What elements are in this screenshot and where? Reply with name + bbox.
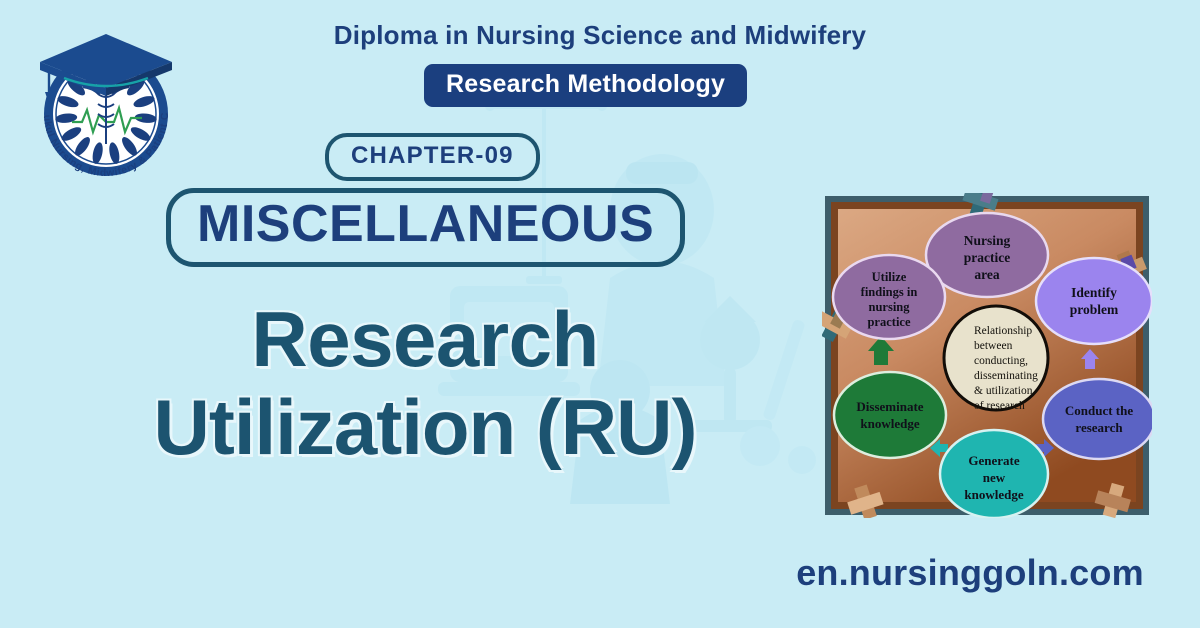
svg-text:disseminating: disseminating	[974, 370, 1038, 382]
page-title-line2: Utilization (RU)	[30, 383, 820, 471]
page-title: Research Utilization (RU)	[30, 295, 820, 471]
unit-box: MISCELLANEOUS	[166, 188, 685, 267]
svg-text:Utilize: Utilize	[872, 270, 907, 284]
svg-text:between: between	[974, 340, 1013, 352]
svg-text:Nursing: Nursing	[964, 233, 1011, 248]
diagram-center-circle: Relationship between conducting, dissemi…	[944, 306, 1048, 412]
svg-text:findings in: findings in	[861, 285, 918, 299]
research-utilization-diagram: Nursing practice area Identify problem C…	[822, 193, 1152, 518]
website-url[interactable]: en.nursinggoln.com	[760, 552, 1180, 594]
svg-text:new: new	[983, 470, 1006, 485]
page-title-line1: Research	[251, 295, 598, 383]
chapter-badge: CHAPTER-09	[325, 133, 540, 181]
node-utilize-findings: Utilize findings in nursing practice	[833, 255, 945, 339]
gurukul-logo: Gurukul Nursing, Midwifery & Patient Car…	[22, 22, 190, 190]
svg-text:nursing: nursing	[869, 300, 911, 314]
svg-text:conducting,: conducting,	[974, 355, 1028, 367]
node-disseminate-knowledge: Disseminate knowledge	[834, 372, 946, 458]
svg-text:knowledge: knowledge	[860, 416, 919, 431]
node-nursing-practice-area: Nursing practice area	[926, 213, 1048, 297]
svg-text:Identify: Identify	[1071, 285, 1117, 300]
node-conduct-the-research: Conduct the research	[1043, 379, 1152, 459]
svg-text:practice: practice	[964, 250, 1010, 265]
subject-badge: Research Methodology	[424, 64, 747, 107]
course-title: Diploma in Nursing Science and Midwifery	[200, 20, 1000, 51]
svg-text:& utilization: & utilization	[974, 385, 1033, 397]
svg-text:knowledge: knowledge	[964, 487, 1023, 502]
svg-text:research: research	[1075, 420, 1123, 435]
svg-text:Relationship: Relationship	[974, 325, 1032, 337]
svg-text:area: area	[974, 267, 999, 282]
node-generate-new-knowledge: Generate new knowledge	[940, 430, 1048, 518]
svg-text:practice: practice	[867, 315, 910, 329]
svg-text:Generate: Generate	[968, 453, 1019, 468]
svg-text:Disseminate: Disseminate	[856, 399, 923, 414]
svg-text:problem: problem	[1070, 302, 1119, 317]
unit-label: MISCELLANEOUS	[197, 198, 654, 251]
node-identify-problem: Identify problem	[1036, 258, 1152, 344]
svg-text:Conduct the: Conduct the	[1065, 403, 1133, 418]
svg-text:of research: of research	[974, 400, 1025, 412]
